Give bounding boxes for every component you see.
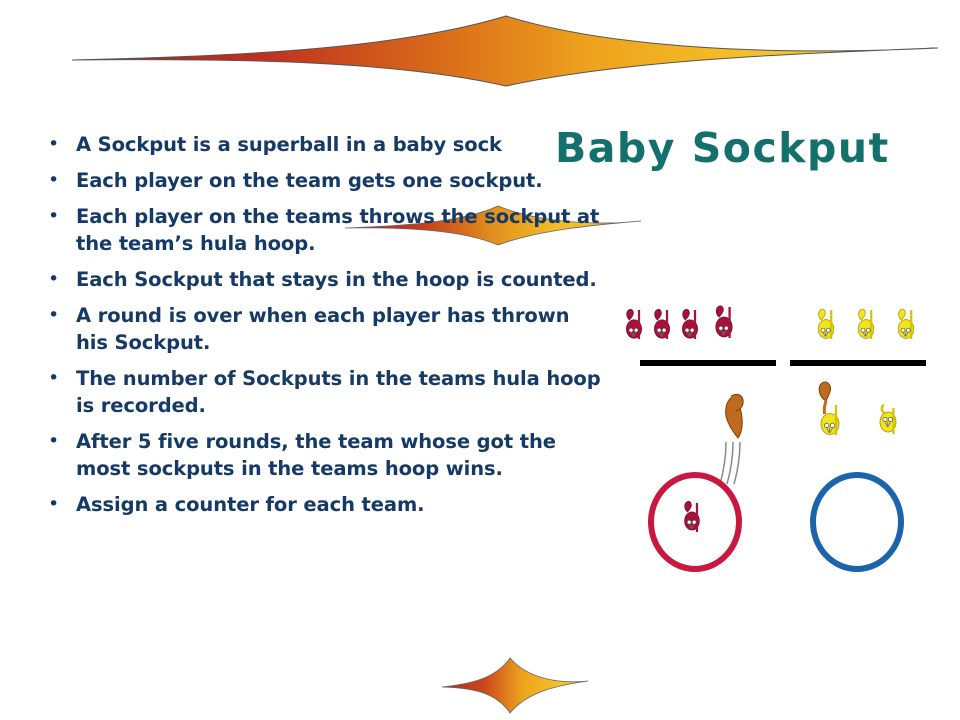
bullet-point-icon: •: [42, 302, 76, 329]
sockput-in-flight-right-1: [819, 382, 839, 435]
list-item-text: The number of Sockputs in the teams hula…: [76, 365, 602, 419]
bullet-point-icon: •: [42, 428, 76, 455]
bullet-point-icon: •: [42, 491, 76, 518]
list-item: • A Sockput is a superball in a baby soc…: [42, 131, 602, 158]
sockput-red: [654, 309, 669, 339]
sockput-in-flight-right-2: [880, 405, 896, 434]
sockput-in-flight-left: [720, 394, 743, 484]
sockput-game-illustration: [614, 290, 950, 590]
footer-diamond-decoration: [440, 655, 610, 720]
bullet-point-icon: •: [42, 203, 76, 230]
list-item-text: Each Sockput that stays in the hoop is c…: [76, 266, 602, 293]
bullet-point-icon: •: [42, 131, 76, 158]
list-item: • A round is over when each player has t…: [42, 302, 602, 356]
list-item: • The number of Sockputs in the teams hu…: [42, 365, 602, 419]
list-item: • After 5 five rounds, the team whose go…: [42, 428, 602, 482]
sockput-red: [682, 309, 697, 339]
header-diamond-decoration: [70, 12, 940, 88]
sockput-red: [716, 306, 732, 338]
throw-line-left: [640, 360, 776, 366]
sockput-yellow: [898, 309, 914, 339]
sockput-yellow: [858, 309, 874, 339]
sockput-in-hoop-red: [685, 501, 700, 532]
page-title: Baby Sockput: [555, 124, 890, 172]
list-item: • Assign a counter for each team.: [42, 491, 602, 518]
list-item-text: Each player on the team gets one sockput…: [76, 167, 602, 194]
hula-hoop-blue: [813, 475, 901, 569]
bullet-point-icon: •: [42, 266, 76, 293]
bullet-point-icon: •: [42, 167, 76, 194]
list-item-text: Each player on the teams throws the sock…: [76, 203, 602, 257]
red-team-waiting-players: [626, 306, 732, 339]
list-item: • Each Sockput that stays in the hoop is…: [42, 266, 602, 293]
yellow-team-waiting-players: [818, 309, 914, 339]
bullet-list: • A Sockput is a superball in a baby soc…: [42, 131, 602, 527]
list-item-text: Assign a counter for each team.: [76, 491, 602, 518]
list-item: • Each player on the teams throws the so…: [42, 203, 602, 257]
sockput-yellow: [818, 309, 834, 339]
list-item: • Each player on the team gets one sockp…: [42, 167, 602, 194]
list-item-text: A round is over when each player has thr…: [76, 302, 602, 356]
sockput-red: [626, 309, 641, 339]
list-item-text: A Sockput is a superball in a baby sock: [76, 131, 602, 158]
bullet-point-icon: •: [42, 365, 76, 392]
slide-canvas: Baby Sockput • A Sockput is a superball …: [0, 0, 960, 720]
throw-line-right: [790, 360, 926, 366]
list-item-text: After 5 five rounds, the team whose got …: [76, 428, 602, 482]
